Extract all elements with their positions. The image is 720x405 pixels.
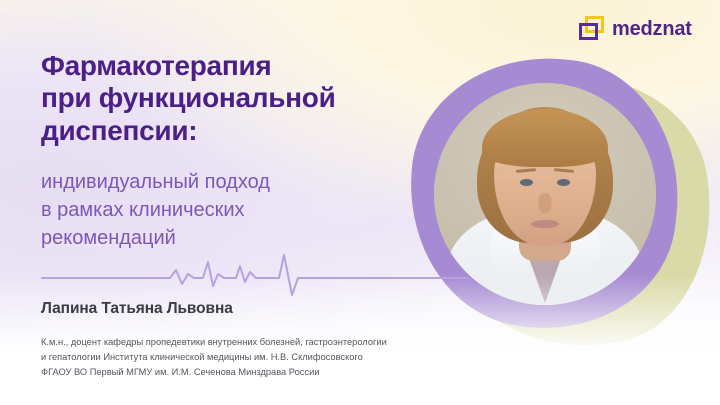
subtitle-line-3: рекомендаций (41, 224, 371, 252)
portrait-eye-left (520, 179, 533, 186)
page-subtitle: индивидуальный подход в рамках клиническ… (41, 168, 371, 252)
logo-wordmark: medznat (612, 19, 692, 39)
title-line-1: Фармакотерапия (41, 50, 431, 82)
title-line-2: при функциональной (41, 82, 431, 114)
title-line-3: диспепсии: (41, 115, 431, 147)
presentation-slide: medznat Фармакотерапия при функционально… (0, 0, 720, 405)
two-overlapping-squares-icon (578, 15, 606, 43)
medznat-logo[interactable]: medznat (578, 15, 692, 43)
page-title: Фармакотерапия при функциональной диспеп… (41, 50, 431, 147)
speaker-name: Лапина Татьяна Львовна (41, 300, 233, 318)
portrait-nose (539, 193, 552, 213)
portrait-mouth (531, 220, 559, 228)
credentials-line-2: и гепатологии Института клинической меди… (41, 350, 471, 365)
speaker-credentials: К.м.н., доцент кафедры пропедевтики внут… (41, 335, 471, 380)
credentials-line-3: ФГАОУ ВО Первый МГМУ им. И.М. Сеченова М… (41, 365, 471, 380)
ecg-heartbeat-line-icon (40, 252, 470, 298)
subtitle-line-2: в рамках клинических (41, 196, 371, 224)
portrait-eye-right (557, 179, 570, 186)
subtitle-line-1: индивидуальный подход (41, 168, 371, 196)
credentials-line-1: К.м.н., доцент кафедры пропедевтики внут… (41, 335, 471, 350)
